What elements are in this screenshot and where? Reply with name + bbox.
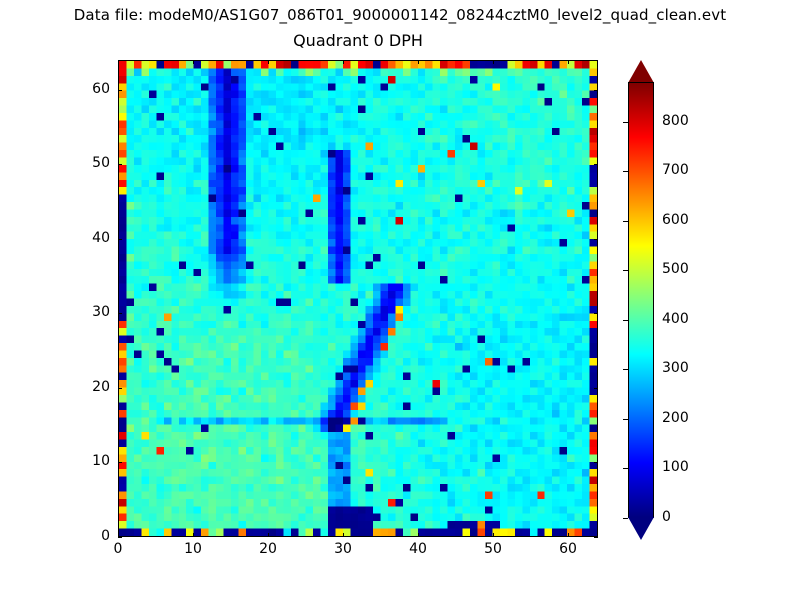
y-tick-mark: [118, 537, 122, 538]
colorbar-tick-label: 200: [662, 410, 689, 426]
y-tick-label: 50: [50, 155, 110, 171]
figure-suptitle: Data file: modeM0/AS1G07_086T01_90000011…: [0, 6, 800, 24]
colorbar-tick-mark: [623, 171, 628, 172]
colorbar-extend-max-arrow: [628, 60, 654, 83]
x-tick-mark: [418, 60, 419, 64]
y-tick-mark: [594, 462, 598, 463]
colorbar-tick-mark: [623, 221, 628, 222]
x-tick-mark: [493, 60, 494, 64]
x-tick-label: 20: [238, 541, 298, 557]
x-tick-mark: [118, 60, 119, 64]
colorbar-tick-mark: [623, 320, 628, 321]
x-tick-mark: [268, 60, 269, 64]
colorbar-tick-mark: [623, 518, 628, 519]
y-tick-mark: [118, 164, 122, 165]
axes-title: Quadrant 0 DPH: [118, 31, 598, 50]
y-tick-label: 20: [50, 379, 110, 395]
colorbar-tick-label: 300: [662, 360, 689, 376]
heatmap-axes: [118, 60, 598, 537]
colorbar-tick-mark: [623, 122, 628, 123]
y-tick-mark: [118, 462, 122, 463]
colorbar-tick-label: 0: [662, 509, 671, 525]
colorbar-tick-label: 600: [662, 212, 689, 228]
colorbar-tick-mark: [623, 369, 628, 370]
y-tick-mark: [118, 90, 122, 91]
x-tick-mark: [568, 533, 569, 537]
x-tick-label: 40: [388, 541, 448, 557]
x-tick-mark: [568, 60, 569, 64]
x-tick-mark: [193, 60, 194, 64]
colorbar-tick-mark: [623, 468, 628, 469]
y-tick-label: 30: [50, 304, 110, 320]
x-tick-label: 50: [463, 541, 523, 557]
colorbar: 0100200300400500600700800: [628, 60, 654, 540]
colorbar-body: [628, 82, 654, 518]
figure-canvas: Data file: modeM0/AS1G07_086T01_90000011…: [0, 0, 800, 600]
x-tick-mark: [193, 533, 194, 537]
y-tick-mark: [594, 313, 598, 314]
colorbar-tick-label: 800: [662, 113, 689, 129]
y-tick-mark: [594, 239, 598, 240]
x-tick-mark: [418, 533, 419, 537]
colorbar-tick-mark: [623, 270, 628, 271]
y-tick-mark: [594, 388, 598, 389]
y-tick-mark: [118, 313, 122, 314]
x-tick-label: 10: [163, 541, 223, 557]
x-tick-mark: [493, 533, 494, 537]
y-tick-label: 10: [50, 453, 110, 469]
detector-heatmap-image: [119, 61, 597, 536]
x-tick-label: 30: [313, 541, 373, 557]
y-tick-mark: [118, 239, 122, 240]
colorbar-tick-label: 500: [662, 261, 689, 277]
y-tick-label: 60: [50, 81, 110, 97]
y-tick-mark: [594, 164, 598, 165]
colorbar-tick-mark: [623, 419, 628, 420]
y-tick-mark: [594, 90, 598, 91]
colorbar-tick-label: 400: [662, 311, 689, 327]
y-tick-label: 0: [50, 528, 110, 544]
x-tick-mark: [343, 533, 344, 537]
colorbar-gradient: [629, 83, 653, 517]
colorbar-tick-label: 100: [662, 459, 689, 475]
colorbar-extend-min-arrow: [628, 517, 654, 540]
y-tick-label: 40: [50, 230, 110, 246]
y-tick-mark: [118, 388, 122, 389]
x-tick-label: 60: [538, 541, 598, 557]
x-tick-mark: [343, 60, 344, 64]
colorbar-tick-label: 700: [662, 162, 689, 178]
x-tick-mark: [268, 533, 269, 537]
y-tick-mark: [594, 537, 598, 538]
